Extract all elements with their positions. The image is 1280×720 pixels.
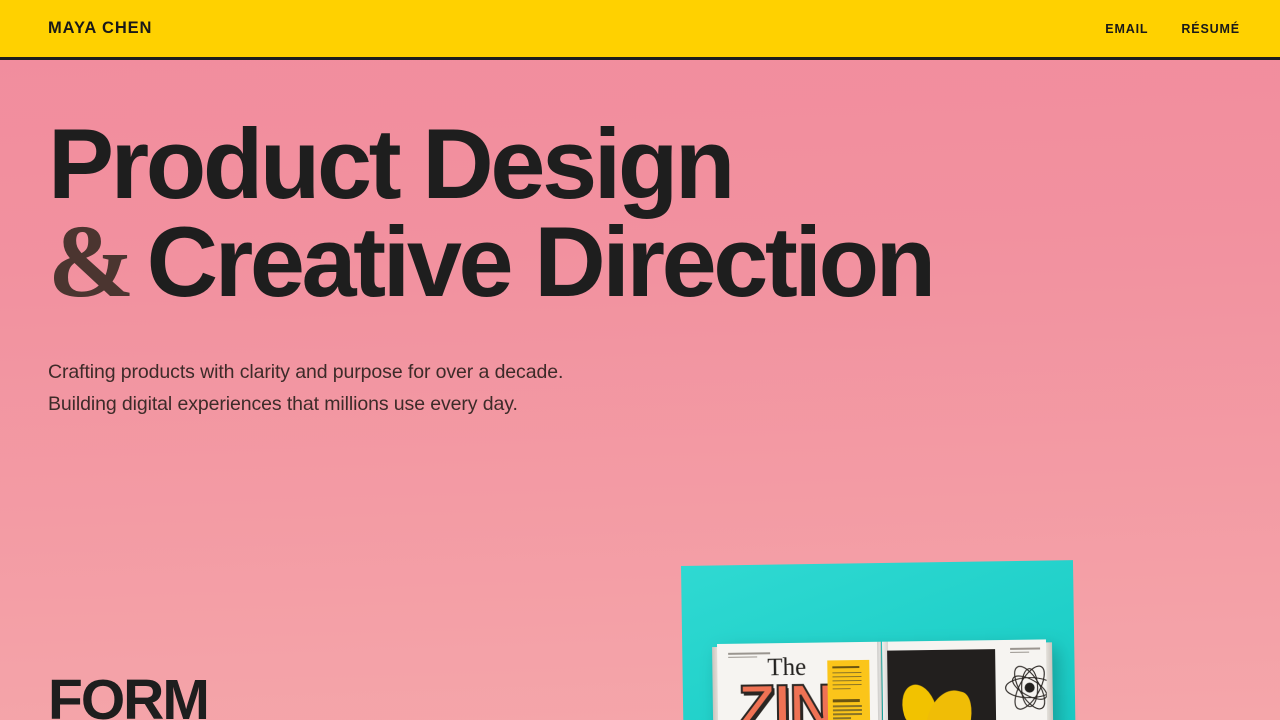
section-label-form: FORM	[48, 672, 208, 720]
magazine-title-zin: ZIN	[737, 676, 832, 720]
nav-link-resume[interactable]: RÉSUMÉ	[1181, 22, 1240, 36]
subtitle-line-1: Crafting products with clarity and purpo…	[48, 356, 1280, 388]
showcase-image[interactable]: The ZIN	[676, 560, 1080, 720]
headline-line-2: &Creative Direction	[48, 212, 1280, 313]
magazine-right-page	[882, 639, 1048, 720]
brand-logo[interactable]: MAYA CHEN	[48, 20, 152, 37]
hero-subtitle: Crafting products with clarity and purpo…	[48, 356, 1280, 421]
headline-line-2-text: Creative Direction	[147, 206, 933, 317]
headline-ampersand: &	[48, 204, 147, 319]
magazine-yellow-text-block	[827, 660, 871, 720]
subtitle-line-2: Building digital experiences that millio…	[48, 388, 1280, 420]
magazine-left-page: The ZIN	[717, 642, 883, 720]
headline-line-1: Product Design	[48, 116, 1280, 212]
main-nav: EMAIL RÉSUMÉ	[1105, 22, 1240, 36]
magazine-dark-photo-panel	[887, 649, 997, 720]
magazine-folio-meta	[1010, 647, 1040, 654]
page-title: Product Design &Creative Direction	[48, 116, 1280, 313]
magazine-spread-photo: The ZIN	[717, 639, 1049, 720]
nav-link-email[interactable]: EMAIL	[1105, 22, 1148, 36]
hero-section: Product Design &Creative Direction Craft…	[0, 60, 1280, 421]
site-header: MAYA CHEN EMAIL RÉSUMÉ	[0, 0, 1280, 60]
magazine-masthead-meta	[728, 652, 770, 662]
magazine-atom-diagram-icon	[1003, 661, 1048, 714]
